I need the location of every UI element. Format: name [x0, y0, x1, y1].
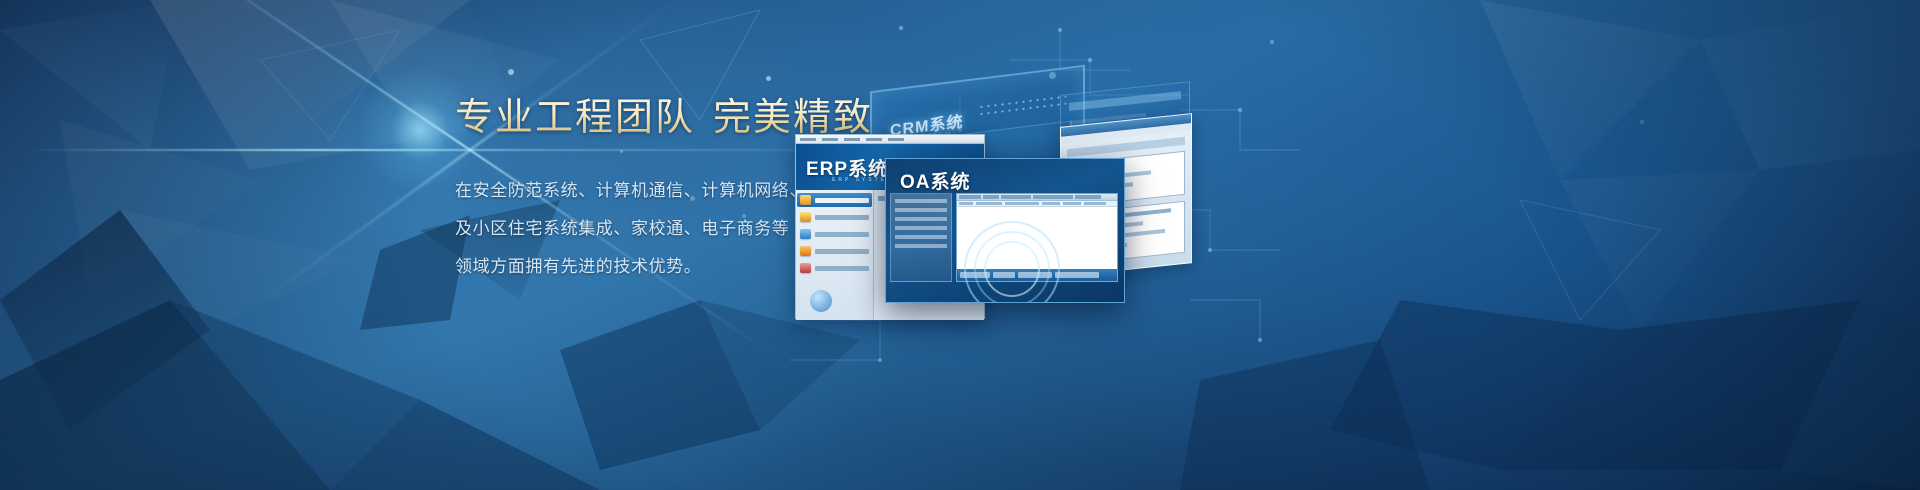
erp-nav-item[interactable]: [800, 229, 869, 239]
box-icon: [800, 246, 811, 256]
oa-sidebar-item[interactable]: [895, 217, 947, 221]
oa-sidebar-item[interactable]: [895, 208, 947, 212]
erp-nav-label: [815, 266, 869, 271]
footer-button[interactable]: [1055, 272, 1099, 278]
toolbar-button[interactable]: [983, 195, 999, 199]
erp-nav-label: [815, 232, 869, 237]
erp-nav-label: [815, 215, 869, 220]
toolbar-button[interactable]: [1075, 195, 1101, 199]
column-header[interactable]: [1005, 202, 1039, 205]
column-header[interactable]: [959, 202, 973, 205]
erp-nav-label: [815, 249, 869, 254]
software-screens-collage: CRM系统 CRM SYSTEM E-P HAND: [760, 0, 1320, 490]
erp-nav-item[interactable]: [800, 212, 869, 222]
ghost-header-bar: [1069, 91, 1181, 111]
bokeh-dot: [1640, 120, 1644, 124]
toolbar-button[interactable]: [1001, 195, 1031, 199]
erp-nav-item[interactable]: [800, 246, 869, 256]
toolbar-button[interactable]: [959, 195, 981, 199]
column-header[interactable]: [976, 202, 1002, 205]
erp-nav-label: [815, 198, 869, 203]
menu-item[interactable]: [844, 138, 860, 141]
oa-sidebar-item[interactable]: [895, 199, 947, 203]
oa-sidebar[interactable]: [890, 193, 952, 282]
column-header[interactable]: [1042, 202, 1060, 205]
oa-sidebar-item[interactable]: [895, 226, 947, 230]
menu-item[interactable]: [800, 138, 816, 141]
crm-dot-grid: [978, 93, 1070, 120]
column-header[interactable]: [1084, 202, 1106, 205]
menu-item[interactable]: [822, 138, 838, 141]
column-header[interactable]: [1063, 202, 1081, 205]
erp-decorative-orb: [810, 290, 832, 312]
bokeh-dot: [508, 69, 514, 75]
oa-sidebar-item[interactable]: [895, 235, 947, 239]
menu-item[interactable]: [888, 138, 904, 141]
menu-item[interactable]: [866, 138, 882, 141]
toolbar-button[interactable]: [1033, 195, 1073, 199]
document-icon: [800, 229, 811, 239]
hero-banner: 专业工程团队完美精致质量 在安全防范系统、计算机通信、计算机网络、智能大厦 及小…: [0, 0, 1920, 490]
erp-nav-item[interactable]: [800, 263, 869, 273]
key-icon: [800, 212, 811, 222]
erp-menubar[interactable]: [796, 135, 984, 144]
report-icon: [800, 263, 811, 273]
touch-ripple-inner: [984, 241, 1040, 297]
folder-icon: [800, 195, 811, 205]
oa-title: OA系统: [900, 167, 971, 194]
erp-sidebar[interactable]: [796, 190, 874, 320]
headline-part-1: 专业工程团队: [455, 97, 695, 139]
oa-window[interactable]: OA系统: [885, 158, 1125, 303]
erp-nav-item[interactable]: [797, 193, 872, 207]
oa-grid-toolbar[interactable]: [957, 194, 1117, 201]
oa-sidebar-item[interactable]: [895, 244, 947, 248]
